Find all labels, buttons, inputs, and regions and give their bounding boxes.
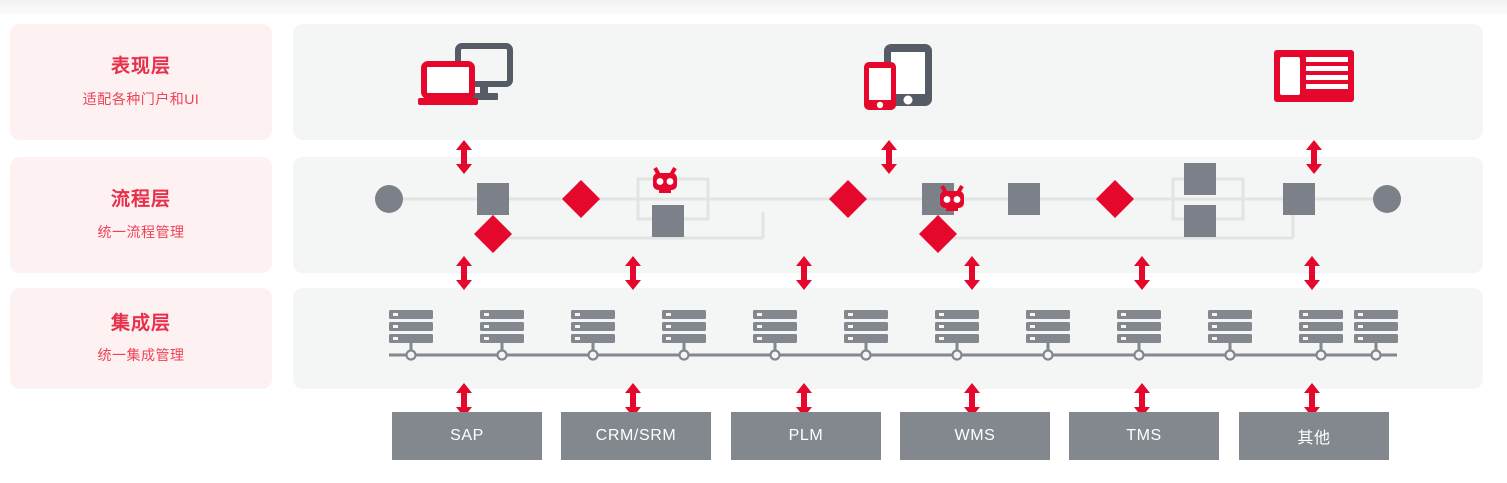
layer-title: 集成层 [111, 312, 171, 336]
tablet-phone-icon [862, 42, 934, 117]
layer-subtitle: 适配各种门户和UI [83, 89, 200, 109]
layer-card-presentation: 表现层 适配各种门户和UI [10, 24, 272, 140]
process-task [1184, 205, 1216, 237]
process-gateway [1096, 180, 1134, 218]
system-box-label: WMS [955, 427, 996, 445]
system-box-label: SAP [450, 427, 484, 445]
top-band [0, 0, 1507, 14]
integration-bus-diagram [293, 288, 1483, 389]
connector-arrow-process-integration [455, 256, 473, 290]
system-box-plm[interactable]: PLM [731, 412, 881, 460]
process-task [477, 183, 509, 215]
connector-arrow-process-integration [795, 256, 813, 290]
connector-arrow-process-integration [1303, 256, 1321, 290]
system-box-crm-srm[interactable]: CRM/SRM [561, 412, 711, 460]
layer-title: 流程层 [111, 188, 171, 212]
system-box-sap[interactable]: SAP [392, 412, 542, 460]
process-gateway [562, 180, 600, 218]
process-start-event [375, 185, 403, 213]
layer-title: 表现层 [111, 55, 171, 79]
integration-nodes [389, 310, 1398, 360]
layer-subtitle: 统一集成管理 [98, 345, 185, 365]
system-box-label: TMS [1126, 427, 1162, 445]
system-box-other[interactable]: 其他 [1239, 412, 1389, 460]
connector-arrow-process-integration [963, 256, 981, 290]
system-box-label: PLM [789, 427, 824, 445]
system-box-wms[interactable]: WMS [900, 412, 1050, 460]
portal-layout-icon [1272, 48, 1356, 109]
process-task [1008, 183, 1040, 215]
system-box-label: CRM/SRM [596, 427, 677, 445]
process-gateway [829, 180, 867, 218]
layer-card-process: 流程层 统一流程管理 [10, 157, 272, 273]
process-task [652, 205, 684, 237]
process-task [1283, 183, 1315, 215]
process-task [1184, 163, 1216, 195]
connector-arrow-process-integration [624, 256, 642, 290]
process-gateway [919, 215, 957, 253]
desktop-laptop-icon [418, 42, 514, 119]
connector-arrow-process-integration [1133, 256, 1151, 290]
robot-icon [653, 168, 677, 193]
layer-card-integration: 集成层 统一集成管理 [10, 288, 272, 389]
process-end-event [1373, 185, 1401, 213]
system-box-tms[interactable]: TMS [1069, 412, 1219, 460]
layer-subtitle: 统一流程管理 [98, 222, 185, 242]
system-box-label: 其他 [1297, 424, 1330, 448]
process-gateway [474, 215, 512, 253]
